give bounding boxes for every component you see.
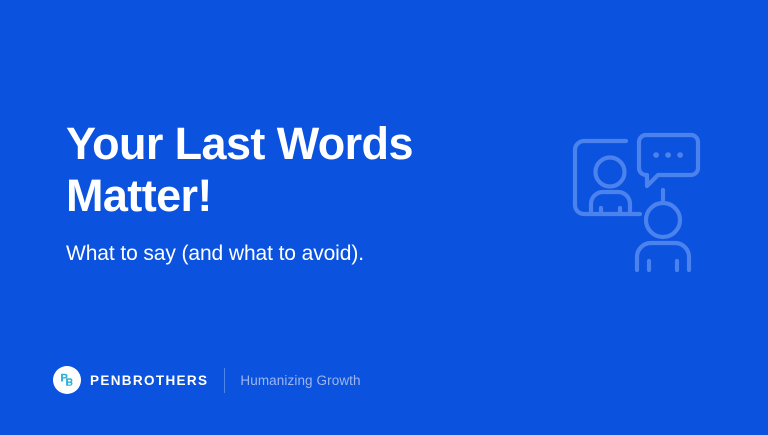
page-title: Your Last Words Matter! (66, 118, 496, 222)
subtitle: What to say (and what to avoid). (66, 240, 496, 267)
video-call-conversation-illustration (563, 128, 713, 278)
brand-lockup: PENBROTHERS Humanizing Growth (53, 365, 361, 395)
brand-tagline: Humanizing Growth (240, 373, 360, 388)
promo-banner: Your Last Words Matter! What to say (and… (0, 0, 768, 435)
copy-block: Your Last Words Matter! What to say (and… (66, 118, 496, 268)
second-person-icon (637, 203, 689, 270)
lockup-divider (224, 368, 225, 393)
speech-bubble-icon (639, 135, 698, 186)
penbrothers-logo-icon (53, 366, 81, 394)
person-in-frame-icon (591, 158, 630, 215)
brand-name: PENBROTHERS (90, 373, 208, 388)
